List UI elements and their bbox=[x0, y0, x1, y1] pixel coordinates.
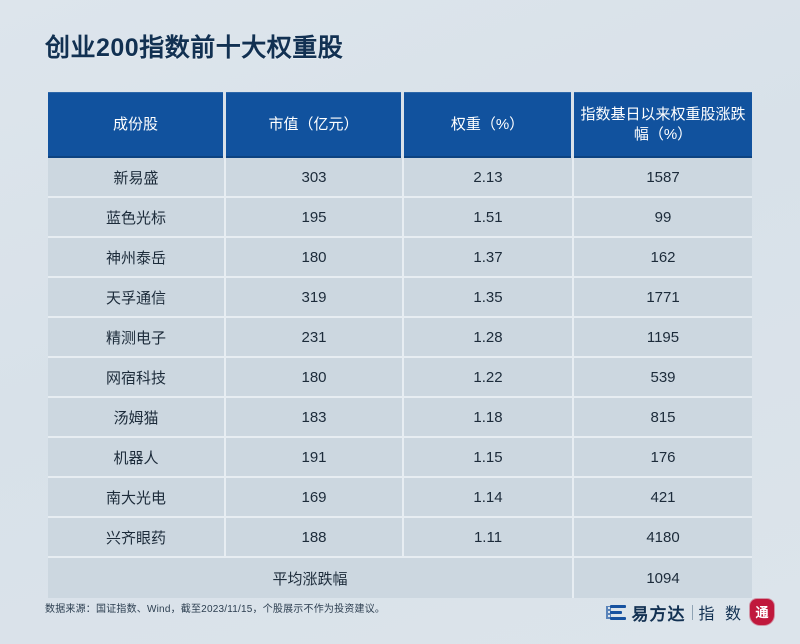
cell-stock-name: 神州泰岳 bbox=[48, 238, 226, 278]
cell-market-cap: 188 bbox=[226, 518, 404, 558]
cell-stock-name: 天孚通信 bbox=[48, 278, 226, 318]
column-header-weight[interactable]: 权重（%） bbox=[404, 92, 574, 158]
summary-value: 1094 bbox=[574, 558, 752, 598]
cell-change: 539 bbox=[574, 358, 752, 398]
cell-market-cap: 303 bbox=[226, 158, 404, 198]
summary-label: 平均涨跌幅 bbox=[48, 558, 574, 598]
cell-market-cap: 180 bbox=[226, 238, 404, 278]
cell-weight: 2.13 bbox=[404, 158, 574, 198]
cell-weight: 1.28 bbox=[404, 318, 574, 358]
infographic-page: 创业200指数前十大权重股 成份股 市值（亿元） 权重（%） 指数基日以来权重股… bbox=[0, 0, 800, 644]
table-row: 机器人 191 1.15 176 bbox=[48, 438, 752, 478]
cell-stock-name: 汤姆猫 bbox=[48, 398, 226, 438]
cell-weight: 1.51 bbox=[404, 198, 574, 238]
table-row: 网宿科技 180 1.22 539 bbox=[48, 358, 752, 398]
cell-market-cap: 183 bbox=[226, 398, 404, 438]
cell-weight: 1.11 bbox=[404, 518, 574, 558]
cell-weight: 1.35 bbox=[404, 278, 574, 318]
table-row: 兴齐眼药 188 1.11 4180 bbox=[48, 518, 752, 558]
table-row: 南大光电 169 1.14 421 bbox=[48, 478, 752, 518]
table-header: 成份股 市值（亿元） 权重（%） 指数基日以来权重股涨跌幅（%） bbox=[48, 92, 752, 158]
page-title: 创业200指数前十大权重股 bbox=[45, 28, 343, 64]
cell-change: 1587 bbox=[574, 158, 752, 198]
brand-sub-label: 指 数 bbox=[699, 600, 744, 624]
table-row: 蓝色光标 195 1.51 99 bbox=[48, 198, 752, 238]
cell-change: 1771 bbox=[574, 278, 752, 318]
cell-market-cap: 191 bbox=[226, 438, 404, 478]
efunds-logo-icon bbox=[606, 604, 626, 621]
cell-change: 176 bbox=[574, 438, 752, 478]
weights-table: 成份股 市值（亿元） 权重（%） 指数基日以来权重股涨跌幅（%） 新易盛 303… bbox=[48, 92, 752, 598]
column-header-name[interactable]: 成份股 bbox=[48, 92, 226, 158]
cell-change: 99 bbox=[574, 198, 752, 238]
cell-weight: 1.14 bbox=[404, 478, 574, 518]
cell-stock-name: 南大光电 bbox=[48, 478, 226, 518]
table-row: 天孚通信 319 1.35 1771 bbox=[48, 278, 752, 318]
cell-change: 421 bbox=[574, 478, 752, 518]
brand-logo: 易方达 指 数 通 bbox=[606, 598, 774, 626]
table-row: 汤姆猫 183 1.18 815 bbox=[48, 398, 752, 438]
seal-stamp-icon: 通 bbox=[750, 599, 774, 625]
table-summary-row: 平均涨跌幅 1094 bbox=[48, 558, 752, 598]
cell-weight: 1.22 bbox=[404, 358, 574, 398]
table-row: 新易盛 303 2.13 1587 bbox=[48, 158, 752, 198]
cell-market-cap: 169 bbox=[226, 478, 404, 518]
table-header-row: 成份股 市值（亿元） 权重（%） 指数基日以来权重股涨跌幅（%） bbox=[48, 92, 752, 158]
cell-weight: 1.37 bbox=[404, 238, 574, 278]
table-row: 神州泰岳 180 1.37 162 bbox=[48, 238, 752, 278]
table-row: 精测电子 231 1.28 1195 bbox=[48, 318, 752, 358]
brand-name-label: 易方达 bbox=[632, 600, 686, 625]
cell-change: 4180 bbox=[574, 518, 752, 558]
cell-stock-name: 兴齐眼药 bbox=[48, 518, 226, 558]
weights-table-container: 成份股 市值（亿元） 权重（%） 指数基日以来权重股涨跌幅（%） 新易盛 303… bbox=[48, 92, 752, 598]
data-source-note: 数据来源：国证指数、Wind，截至2023/11/15，个股展示不作为投资建议。 bbox=[45, 600, 385, 615]
cell-weight: 1.15 bbox=[404, 438, 574, 478]
table-body: 新易盛 303 2.13 1587 蓝色光标 195 1.51 99 神州泰岳 … bbox=[48, 158, 752, 598]
cell-stock-name: 机器人 bbox=[48, 438, 226, 478]
cell-market-cap: 319 bbox=[226, 278, 404, 318]
cell-stock-name: 精测电子 bbox=[48, 318, 226, 358]
brand-divider bbox=[692, 605, 693, 620]
cell-change: 162 bbox=[574, 238, 752, 278]
cell-stock-name: 网宿科技 bbox=[48, 358, 226, 398]
cell-change: 815 bbox=[574, 398, 752, 438]
column-header-marketcap[interactable]: 市值（亿元） bbox=[226, 92, 404, 158]
column-header-change[interactable]: 指数基日以来权重股涨跌幅（%） bbox=[574, 92, 752, 158]
cell-market-cap: 180 bbox=[226, 358, 404, 398]
cell-change: 1195 bbox=[574, 318, 752, 358]
cell-stock-name: 新易盛 bbox=[48, 158, 226, 198]
cell-market-cap: 231 bbox=[226, 318, 404, 358]
cell-stock-name: 蓝色光标 bbox=[48, 198, 226, 238]
cell-market-cap: 195 bbox=[226, 198, 404, 238]
cell-weight: 1.18 bbox=[404, 398, 574, 438]
